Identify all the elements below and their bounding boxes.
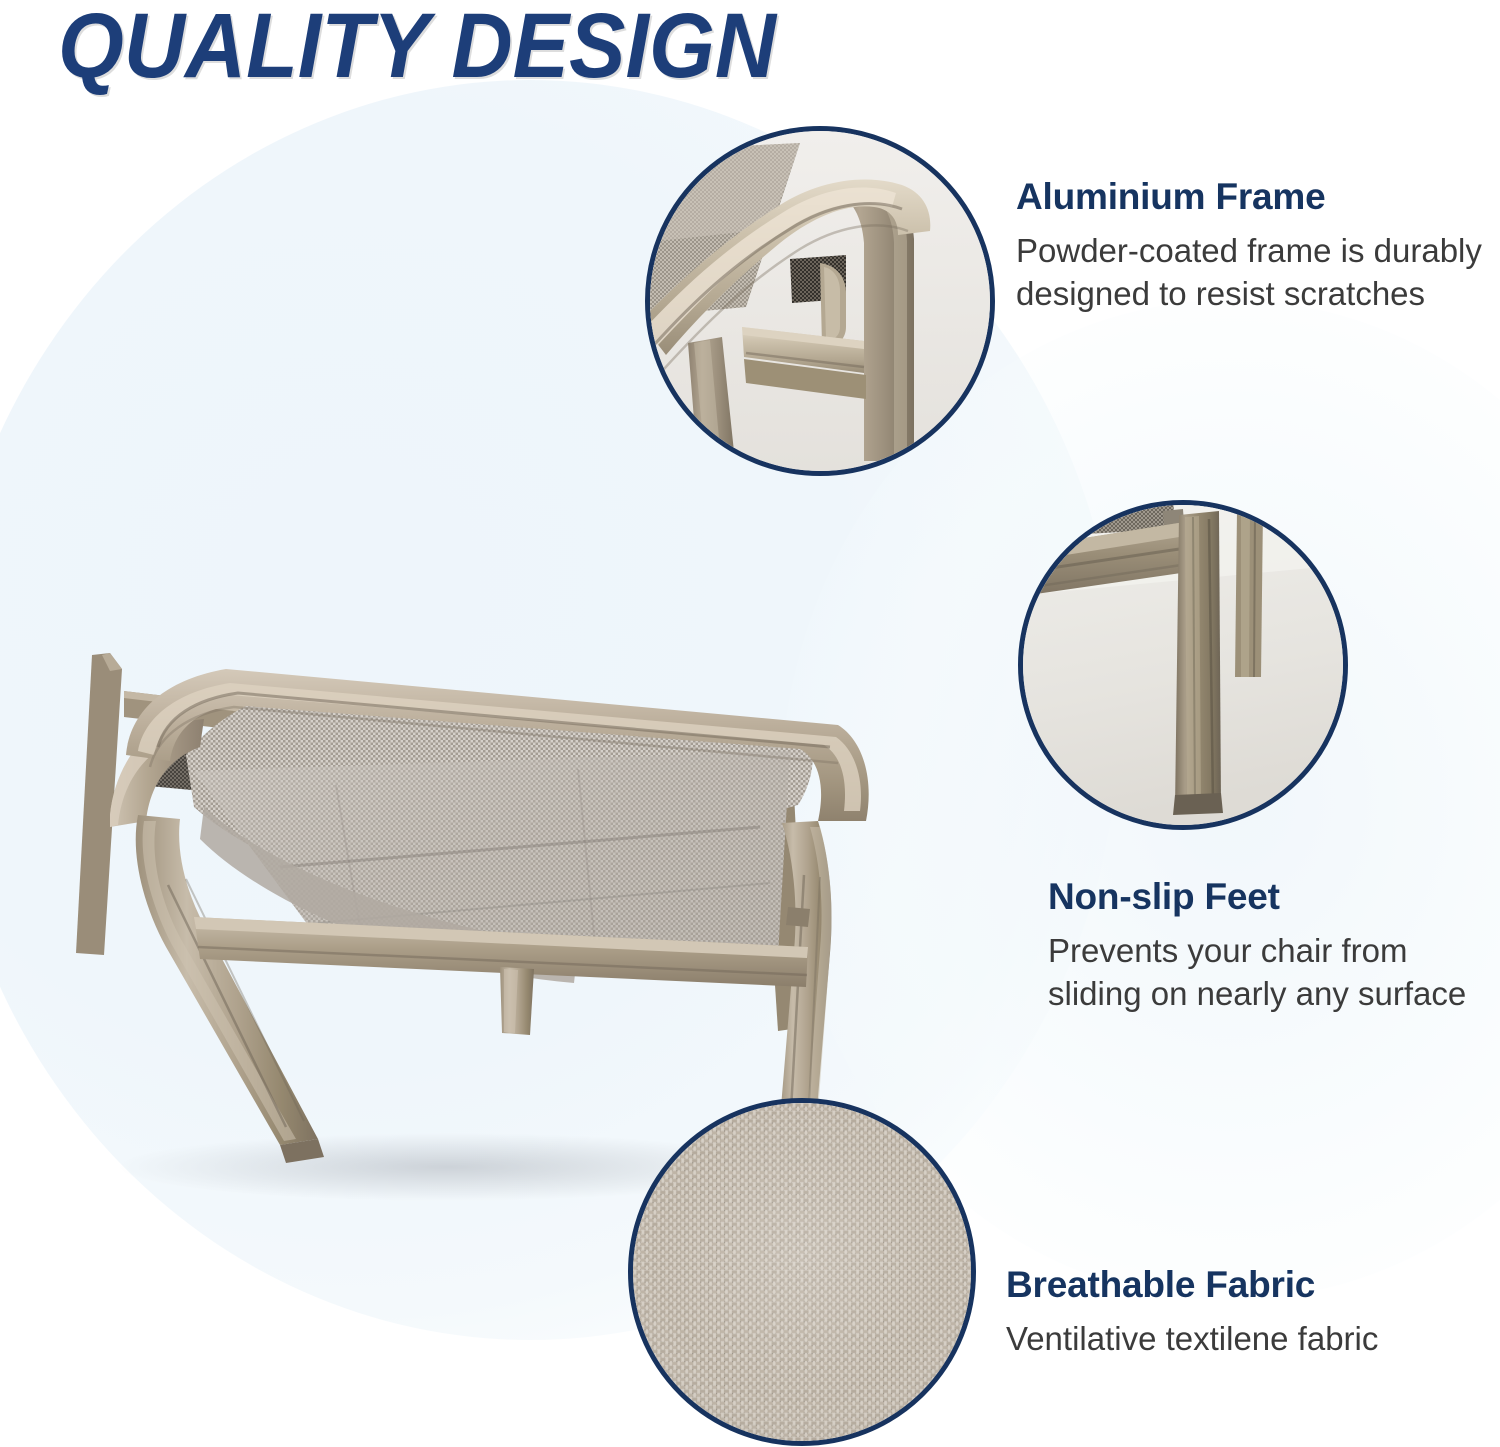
callout-heading-breathable-fabric: Breathable Fabric — [1006, 1264, 1496, 1307]
callout-text-aluminium-frame: Aluminium Frame Powder-coated frame is d… — [1016, 176, 1486, 316]
callout-text-breathable-fabric: Breathable Fabric Ventilative textilene … — [1006, 1264, 1496, 1360]
frame-corner-closeup-image — [650, 131, 990, 471]
callout-circle-non-slip-feet — [1018, 500, 1348, 830]
infographic-page: QUALITY DESIGN — [0, 0, 1500, 1447]
textilene-weave-closeup-image — [633, 1103, 971, 1441]
callout-text-non-slip-feet: Non-slip Feet Prevents your chair from s… — [1048, 876, 1493, 1016]
callout-circle-breathable-fabric — [628, 1098, 976, 1446]
callout-body-breathable-fabric: Ventilative textilene fabric — [1006, 1317, 1496, 1361]
product-image-ottoman — [18, 455, 878, 1215]
page-title: QUALITY DESIGN — [58, 0, 776, 100]
callout-heading-non-slip-feet: Non-slip Feet — [1048, 876, 1493, 919]
callout-body-non-slip-feet: Prevents your chair from sliding on near… — [1048, 929, 1493, 1017]
callout-heading-aluminium-frame: Aluminium Frame — [1016, 176, 1486, 219]
callout-body-aluminium-frame: Powder-coated frame is durably designed … — [1016, 229, 1486, 317]
callout-circle-aluminium-frame — [645, 126, 995, 476]
leg-foot-closeup-image — [1023, 505, 1343, 825]
